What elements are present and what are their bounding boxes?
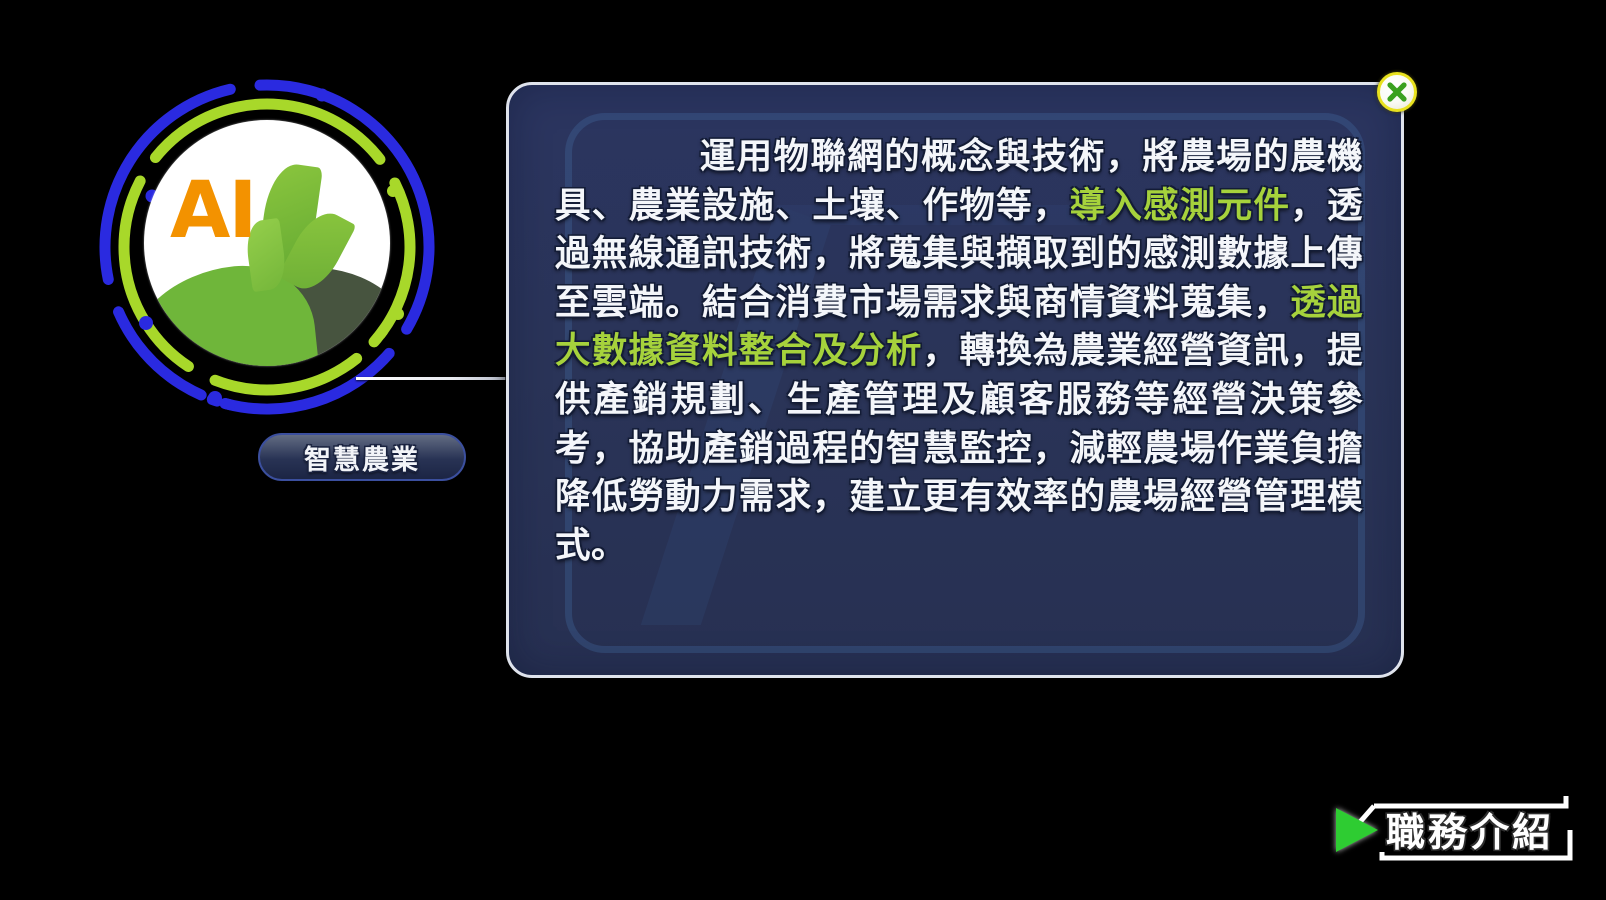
logo-disc: AI (144, 120, 390, 366)
next-button-label: 職務介紹 (1386, 802, 1554, 858)
logo-pill-button[interactable]: 智慧農業 (258, 433, 466, 481)
close-x-icon (1384, 79, 1410, 105)
panel-body-text: 運用物聯網的概念與技術，將農場的農機具、農業設施、土壤、作物等，導入感測元件，透… (555, 133, 1363, 570)
next-section-button[interactable]: 職務介紹 (1330, 786, 1582, 870)
logo-pill-label: 智慧農業 (304, 438, 420, 477)
logo-badge: AI 智慧農業 (98, 78, 436, 416)
play-triangle-icon (1336, 808, 1378, 852)
scene-stage: AI 智慧農業 運用物聯網的概念與技術，將農場的農機具、農業設施、土壤、作物等，… (0, 0, 1606, 900)
panel-text-highlight: 導入感測元件 (1070, 185, 1291, 226)
logo-wordmark: AI (170, 172, 255, 250)
connector-line (356, 377, 516, 380)
close-button[interactable] (1377, 72, 1417, 112)
description-panel: 運用物聯網的概念與技術，將農場的農機具、農業設施、土壤、作物等，導入感測元件，透… (506, 82, 1404, 678)
